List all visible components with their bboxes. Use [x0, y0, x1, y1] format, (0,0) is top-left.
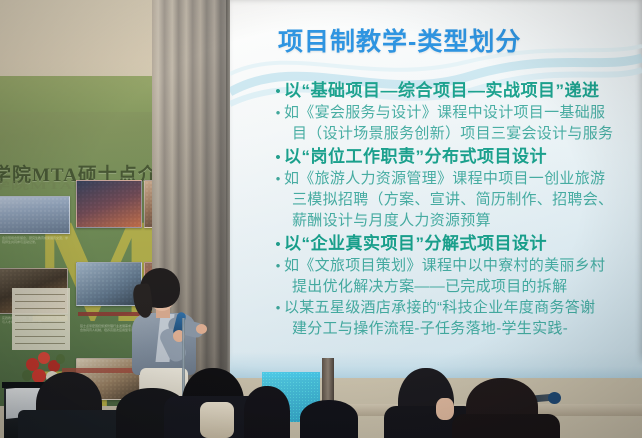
- bullet-marker-icon: •: [272, 80, 284, 99]
- audience-head: [244, 386, 290, 438]
- bullet-text: 以“岗位工作职责”分布式项目设计: [284, 146, 547, 168]
- bullet-text: 以某五星级酒店承接的“科技企业年度商务答谢: [284, 297, 595, 318]
- audience-shoulders: [452, 414, 560, 438]
- audience-face: [436, 398, 454, 420]
- audience-shoulders: [18, 410, 122, 438]
- bullet-marker-icon: •: [272, 146, 284, 165]
- bullet-row: • 以“企业真实项目”分解式项目设计: [272, 233, 642, 255]
- bullet-row: • 以某五星级酒店承接的“科技企业年度商务答谢: [272, 297, 642, 318]
- bullet-continuation-text: 三模拟招聘（方案、宣讲、简历制作、招聘会、: [292, 189, 642, 210]
- bullet-marker-icon: •: [272, 168, 284, 185]
- table-microphone-head: [548, 392, 561, 404]
- bullet-row: • 如《文旅项目策划》课程中以中寮村的美丽乡村: [272, 255, 642, 276]
- bullet-row: • 以“基础项目—综合项目—实战项目”递进: [272, 80, 642, 102]
- audience-head: [300, 400, 358, 438]
- bullet-text: 如《旅游人力资源管理》课程中项目一创业旅游: [284, 168, 605, 189]
- poster-info-table: [12, 288, 70, 350]
- bullet-text: 如《宴会服务与设计》课程中设计项目一基础服: [284, 102, 605, 123]
- bullet-continuation-text: 目（设计场景服务创新）项目三宴会设计与服务: [292, 123, 642, 144]
- bullet-text: 以“企业真实项目”分解式项目设计: [284, 233, 547, 255]
- bullet-continuation-text: 建分工与操作流程-子任务落地-学生实践-: [292, 318, 642, 339]
- slide-bullet-list: • 以“基础项目—综合项目—实战项目”递进 • 如《宴会服务与设计》课程中设计项…: [272, 80, 642, 339]
- audience-bag: [200, 402, 234, 438]
- bullet-marker-icon: •: [272, 102, 284, 119]
- screenshot-root: M M 学院MTA硕士点介绍 学院MTA硕士点介绍 会议现场合影留念，研究生教育…: [0, 0, 642, 438]
- bullet-row: • 以“岗位工作职责”分布式项目设计: [272, 146, 642, 168]
- bullet-continuation-text: 薪酬设计与月度人力资源预算: [292, 210, 642, 231]
- bullet-text: 如《文旅项目策划》课程中以中寮村的美丽乡村: [284, 255, 605, 276]
- poster-header-band: [0, 76, 172, 112]
- bullet-marker-icon: •: [272, 233, 284, 252]
- bullet-row: • 如《宴会服务与设计》课程中设计项目一基础服: [272, 102, 642, 123]
- poster-caption-text: 会议现场合影留念，研究生教育成果展示交流，学院师生共同参与活动记录。: [2, 236, 68, 262]
- bullet-continuation-text: 提出优化解决方案——已完成项目的拆解: [292, 276, 642, 297]
- projection-screen: 项目制教学-类型划分 • 以“基础项目—综合项目—实战项目”递进 • 如《宴会服…: [230, 0, 642, 378]
- bullet-text: 以“基础项目—综合项目—实战项目”递进: [284, 80, 600, 102]
- bullet-row: • 如《旅游人力资源管理》课程中项目一创业旅游: [272, 168, 642, 189]
- bullet-marker-icon: •: [272, 255, 284, 272]
- slide-title: 项目制教学-类型划分: [278, 22, 618, 58]
- presenter-gesturing-hand: [196, 324, 207, 334]
- poster-photo: [0, 196, 70, 234]
- bullet-marker-icon: •: [272, 297, 284, 314]
- poster-photo: [76, 180, 142, 228]
